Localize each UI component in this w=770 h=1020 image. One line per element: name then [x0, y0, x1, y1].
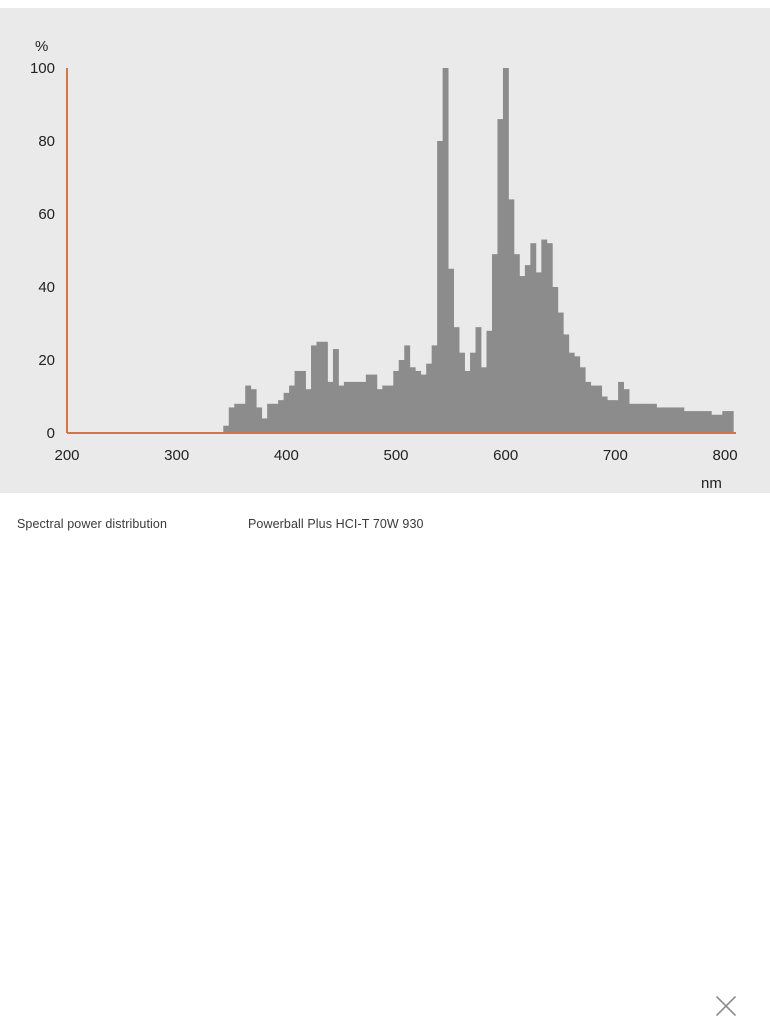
spectrum-bar [295, 371, 301, 433]
spectrum-bar [624, 389, 630, 433]
spectrum-bar [547, 243, 553, 433]
spectrum-bar [684, 411, 690, 433]
spectrum-bar [717, 415, 723, 433]
spectral-power-distribution-chart: 020406080100 200300400500600700800 [0, 8, 770, 493]
spectrum-bar [640, 404, 646, 433]
spectrum-bar [404, 345, 410, 433]
close-button[interactable] [712, 992, 740, 1020]
x-tick-label: 800 [713, 447, 738, 464]
spectrum-bar [667, 407, 673, 433]
spectrum-bar [344, 382, 350, 433]
spectrum-bar [574, 356, 580, 433]
spectrum-bar [580, 367, 586, 433]
spectrum-bar [448, 269, 454, 433]
spectrum-bar [432, 345, 438, 433]
spectrum-bar [569, 353, 575, 433]
spectrum-bar [415, 371, 421, 433]
spectrum-bar [481, 367, 487, 433]
spectrum-bar [393, 371, 399, 433]
spectrum-bar [311, 345, 317, 433]
y-tick-label: 80 [38, 133, 55, 150]
spectrum-bar [360, 382, 366, 433]
spectrum-bar [673, 407, 679, 433]
x-tick-labels: 200300400500600700800 [54, 447, 737, 464]
spectrum-bar [618, 382, 624, 433]
plot-area: 020406080100 200300400500600700800 % nm [0, 8, 770, 493]
spectrum-bar [426, 364, 432, 433]
spectrum-bar [399, 360, 405, 433]
spectrum-bar [234, 404, 240, 433]
spectrum-bar [662, 407, 668, 433]
spectrum-bar [382, 386, 388, 433]
spectrum-bar [437, 141, 443, 433]
spectrum-bar [256, 407, 262, 433]
spectrum-bar [388, 386, 394, 433]
spectrum-bar [338, 386, 344, 433]
spectrum-bar [514, 254, 520, 433]
spectrum-bar [656, 407, 662, 433]
spectrum-bar [596, 386, 602, 433]
spectrum-bar [333, 349, 339, 433]
spectrum-bar [327, 382, 333, 433]
x-tick-label: 400 [274, 447, 299, 464]
spectrum-bar [322, 342, 328, 433]
spectrum-bar [476, 327, 482, 433]
spectrum-bar [289, 386, 295, 433]
spectrum-bar [563, 334, 569, 433]
spectrum-bar [536, 272, 542, 433]
spectrum-bar [607, 400, 613, 433]
spectrum-bar [366, 375, 372, 433]
top-spacer [0, 0, 770, 8]
spectrum-bar [711, 415, 717, 433]
spectrum-bar [410, 367, 416, 433]
y-tick-labels: 020406080100 [30, 60, 55, 442]
spectrum-bar [355, 382, 361, 433]
spectrum-bar [695, 411, 701, 433]
spectrum-bar [223, 426, 229, 433]
spectrum-bar [421, 375, 427, 433]
spectrum-bar [377, 389, 383, 433]
spectrum-bar [240, 404, 246, 433]
spectrum-bar [585, 382, 591, 433]
spectrum-bar [646, 404, 652, 433]
spectrum-bar [602, 397, 608, 434]
y-tick-label: 0 [47, 425, 55, 442]
spectrum-bar [689, 411, 695, 433]
spectrum-bar [613, 400, 619, 433]
x-tick-label: 300 [164, 447, 189, 464]
y-tick-label: 40 [38, 279, 55, 296]
close-icon [714, 994, 738, 1018]
spectrum-bar [300, 371, 306, 433]
spectrum-bar [651, 404, 657, 433]
spectrum-bar [284, 393, 290, 433]
spectrum-bar [262, 418, 268, 433]
spectrum-bar [306, 389, 312, 433]
spectrum-bar [519, 276, 525, 433]
spectrum-bar [530, 243, 536, 433]
spectrum-bar [470, 353, 476, 433]
bars-group [223, 68, 733, 433]
spectrum-bar [700, 411, 706, 433]
y-tick-label: 60 [38, 206, 55, 223]
x-tick-label: 200 [54, 447, 79, 464]
spectrum-bar [245, 386, 251, 433]
spectrum-bar [454, 327, 460, 433]
spectrum-bar [229, 407, 235, 433]
spectrum-bar [541, 240, 547, 433]
chart-panel: 020406080100 200300400500600700800 % nm [0, 8, 770, 493]
y-axis-title: % [35, 38, 48, 55]
x-axis-unit-label: nm [701, 475, 722, 492]
spectrum-bar [459, 353, 465, 433]
footer-bar: Spectral power distribution Powerball Pl… [0, 493, 770, 541]
spectrum-bar [267, 404, 273, 433]
spectrum-bar [497, 119, 503, 433]
spectrum-bar [492, 254, 498, 433]
spectrum-bar [635, 404, 641, 433]
y-tick-label: 20 [38, 352, 55, 369]
spectrum-bar [591, 386, 597, 433]
x-tick-label: 700 [603, 447, 628, 464]
y-tick-label: 100 [30, 60, 55, 77]
spectrum-bar [487, 331, 493, 433]
spectrum-bar [508, 199, 514, 433]
x-tick-label: 500 [384, 447, 409, 464]
spectrum-bar [465, 371, 471, 433]
spectrum-bar [722, 411, 728, 433]
spectrum-bar [251, 389, 257, 433]
spectrum-bar [317, 342, 323, 433]
spectrum-bar [629, 404, 635, 433]
spectrum-bar [503, 68, 509, 433]
spectrum-bar [706, 411, 712, 433]
chart-caption: Spectral power distribution [17, 517, 167, 531]
spectral-chart-page: 020406080100 200300400500600700800 % nm … [0, 0, 770, 541]
spectrum-bar [371, 375, 377, 433]
spectrum-bar [525, 265, 531, 433]
spectrum-bar [678, 407, 684, 433]
spectrum-bar [349, 382, 355, 433]
x-tick-label: 600 [493, 447, 518, 464]
spectrum-bar [273, 404, 279, 433]
product-name: Powerball Plus HCI-T 70W 930 [248, 517, 424, 531]
spectrum-bar [552, 287, 558, 433]
spectrum-bar [728, 411, 734, 433]
spectrum-bar [443, 68, 449, 433]
spectrum-bar [558, 313, 564, 433]
spectrum-bar [278, 400, 284, 433]
